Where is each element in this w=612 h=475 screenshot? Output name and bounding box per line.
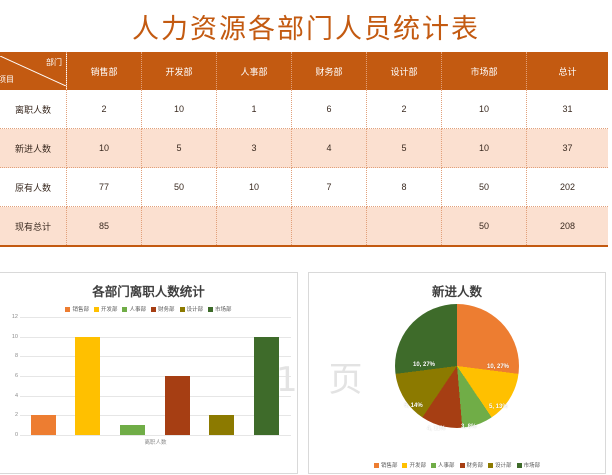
bar-开发部[interactable] <box>75 337 100 435</box>
cell-2-1: 50 <box>142 168 217 207</box>
table-row: 新进人数 10 5 3 4 5 10 37 <box>0 129 608 168</box>
cell-3-2 <box>217 207 292 246</box>
legend-label: 财务部 <box>467 461 484 469</box>
row-label-1: 新进人数 <box>0 129 67 168</box>
table-header: 部门 项目 销售部 开发部 人事部 财务部 设计部 市场部 总计 <box>0 52 608 90</box>
legend-item: 开发部 <box>94 305 118 313</box>
col-header-4: 设计部 <box>367 52 442 90</box>
cell-1-1: 5 <box>142 129 217 168</box>
cell-2-3: 7 <box>292 168 367 207</box>
bar-chart-legend: 销售部 开发部 人事部 财务部 设计部 市场部 <box>0 305 297 313</box>
cell-0-5: 10 <box>442 90 527 129</box>
pie-chart-legend: 销售部 开发部 人事部 财务部 设计部 市场部 <box>309 461 605 469</box>
bar-市场部[interactable] <box>254 337 279 435</box>
legend-item: 财务部 <box>460 461 484 469</box>
cell-1-5: 10 <box>442 129 527 168</box>
legend-swatch-icon <box>208 307 213 312</box>
table-header-row: 部门 项目 销售部 开发部 人事部 财务部 设计部 市场部 总计 <box>0 52 608 90</box>
cell-0-0: 2 <box>67 90 142 129</box>
cell-3-6: 208 <box>527 207 609 246</box>
legend-label: 市场部 <box>215 305 232 313</box>
pie-label-开发部: 5, 13% <box>489 404 508 410</box>
pie-chart-title: 新进人数 <box>309 281 605 300</box>
legend-label: 设计部 <box>187 305 204 313</box>
x-axis-label: 离职人数 <box>20 438 291 446</box>
cell-0-4: 2 <box>367 90 442 129</box>
legend-swatch-icon <box>65 307 70 312</box>
bar-plot-area: 12 10 8 6 4 2 0 <box>4 317 291 449</box>
legend-swatch-icon <box>402 463 407 468</box>
cell-1-2: 3 <box>217 129 292 168</box>
legend-label: 销售部 <box>72 305 89 313</box>
pie-label-财务部: 4, 11% <box>427 426 445 432</box>
pie-plot-area: 10, 27% 5, 13% 3, 8% 4, 11% 5, 14% 10, 2… <box>309 302 605 437</box>
legend-item: 财务部 <box>151 305 175 313</box>
legend-label: 开发部 <box>409 461 426 469</box>
table-row: 现有总计 85 50 208 <box>0 207 608 246</box>
cell-3-1 <box>142 207 217 246</box>
table-corner-cell: 部门 项目 <box>0 52 67 90</box>
col-header-5: 市场部 <box>442 52 527 90</box>
cell-2-5: 50 <box>442 168 527 207</box>
y-tick-label: 12 <box>12 314 18 320</box>
y-tick-label: 6 <box>15 373 18 379</box>
table-body: 离职人数 2 10 1 6 2 10 31 新进人数 10 5 3 4 5 10… <box>0 90 608 245</box>
pie-label-市场部: 10, 27% <box>413 362 435 368</box>
legend-item: 市场部 <box>208 305 232 313</box>
legend-swatch-icon <box>517 463 522 468</box>
stats-table: 部门 项目 销售部 开发部 人事部 财务部 设计部 市场部 总计 离职人数 2 … <box>0 52 608 245</box>
cell-2-6: 202 <box>527 168 609 207</box>
bar-人事部[interactable] <box>120 425 145 435</box>
y-axis: 12 10 8 6 4 2 0 <box>4 317 20 435</box>
cell-3-3 <box>292 207 367 246</box>
legend-swatch-icon <box>460 463 465 468</box>
cell-2-2: 10 <box>217 168 292 207</box>
corner-dept-label: 部门 <box>46 57 62 68</box>
legend-label: 财务部 <box>158 305 175 313</box>
pie-label-人事部: 3, 8% <box>461 424 476 430</box>
page-title: 人力资源各部门人员统计表 <box>132 7 480 46</box>
cell-2-0: 77 <box>67 168 142 207</box>
table-row: 离职人数 2 10 1 6 2 10 31 <box>0 90 608 129</box>
bar-财务部[interactable] <box>165 376 190 435</box>
bar-chart-title: 各部门离职人数统计 <box>0 281 297 300</box>
bar-设计部[interactable] <box>209 415 234 435</box>
bar-chart-panel[interactable]: 各部门离职人数统计 销售部 开发部 人事部 财务部 设计部 市场部 12 10 … <box>0 272 298 474</box>
legend-label: 设计部 <box>495 461 512 469</box>
col-header-2: 人事部 <box>217 52 292 90</box>
legend-item: 销售部 <box>374 461 398 469</box>
cell-3-5: 50 <box>442 207 527 246</box>
stats-table-container: 部门 项目 销售部 开发部 人事部 财务部 设计部 市场部 总计 离职人数 2 … <box>0 52 608 247</box>
y-tick-label: 0 <box>15 432 18 438</box>
legend-item: 设计部 <box>180 305 204 313</box>
col-header-0: 销售部 <box>67 52 142 90</box>
cell-0-6: 31 <box>527 90 609 129</box>
y-tick-label: 2 <box>15 412 18 418</box>
cell-1-6: 37 <box>527 129 609 168</box>
legend-item: 设计部 <box>488 461 512 469</box>
col-header-1: 开发部 <box>142 52 217 90</box>
legend-swatch-icon <box>94 307 99 312</box>
legend-item: 人事部 <box>431 461 455 469</box>
legend-item: 市场部 <box>517 461 541 469</box>
corner-item-label: 项目 <box>0 74 14 85</box>
row-label-3: 现有总计 <box>0 207 67 246</box>
cell-2-4: 8 <box>367 168 442 207</box>
y-tick-label: 10 <box>12 334 18 340</box>
legend-swatch-icon <box>488 463 493 468</box>
cell-0-3: 6 <box>292 90 367 129</box>
cell-1-3: 4 <box>292 129 367 168</box>
bar-销售部[interactable] <box>31 415 56 435</box>
legend-label: 市场部 <box>524 461 541 469</box>
cell-1-0: 10 <box>67 129 142 168</box>
legend-swatch-icon <box>122 307 127 312</box>
cell-3-0: 85 <box>67 207 142 246</box>
y-tick-label: 8 <box>15 353 18 359</box>
charts-strip: 各部门离职人数统计 销售部 开发部 人事部 财务部 设计部 市场部 12 10 … <box>0 272 612 475</box>
pie-label-销售部: 10, 27% <box>487 364 509 370</box>
bar-series <box>21 317 289 435</box>
y-tick-label: 4 <box>15 393 18 399</box>
cell-0-2: 1 <box>217 90 292 129</box>
row-label-2: 原有人数 <box>0 168 67 207</box>
legend-label: 销售部 <box>381 461 398 469</box>
col-header-6: 总计 <box>527 52 609 90</box>
col-header-3: 财务部 <box>292 52 367 90</box>
pie-label-设计部: 5, 14% <box>404 403 423 409</box>
table-row: 原有人数 77 50 10 7 8 50 202 <box>0 168 608 207</box>
pie-chart-panel[interactable]: 新进人数 10, 27% 5, 13% 3, 8% 4, 11% 5, 14% … <box>308 272 606 474</box>
legend-swatch-icon <box>180 307 185 312</box>
page-title-bar: 人力资源各部门人员统计表 <box>0 0 612 52</box>
legend-swatch-icon <box>431 463 436 468</box>
legend-item: 开发部 <box>402 461 426 469</box>
legend-item: 销售部 <box>65 305 89 313</box>
grid-line <box>20 435 291 436</box>
legend-label: 人事部 <box>129 305 146 313</box>
row-label-0: 离职人数 <box>0 90 67 129</box>
legend-item: 人事部 <box>122 305 146 313</box>
legend-label: 人事部 <box>438 461 455 469</box>
legend-swatch-icon <box>151 307 156 312</box>
cell-0-1: 10 <box>142 90 217 129</box>
legend-label: 开发部 <box>101 305 118 313</box>
cell-1-4: 5 <box>367 129 442 168</box>
cell-3-4 <box>367 207 442 246</box>
legend-swatch-icon <box>374 463 379 468</box>
